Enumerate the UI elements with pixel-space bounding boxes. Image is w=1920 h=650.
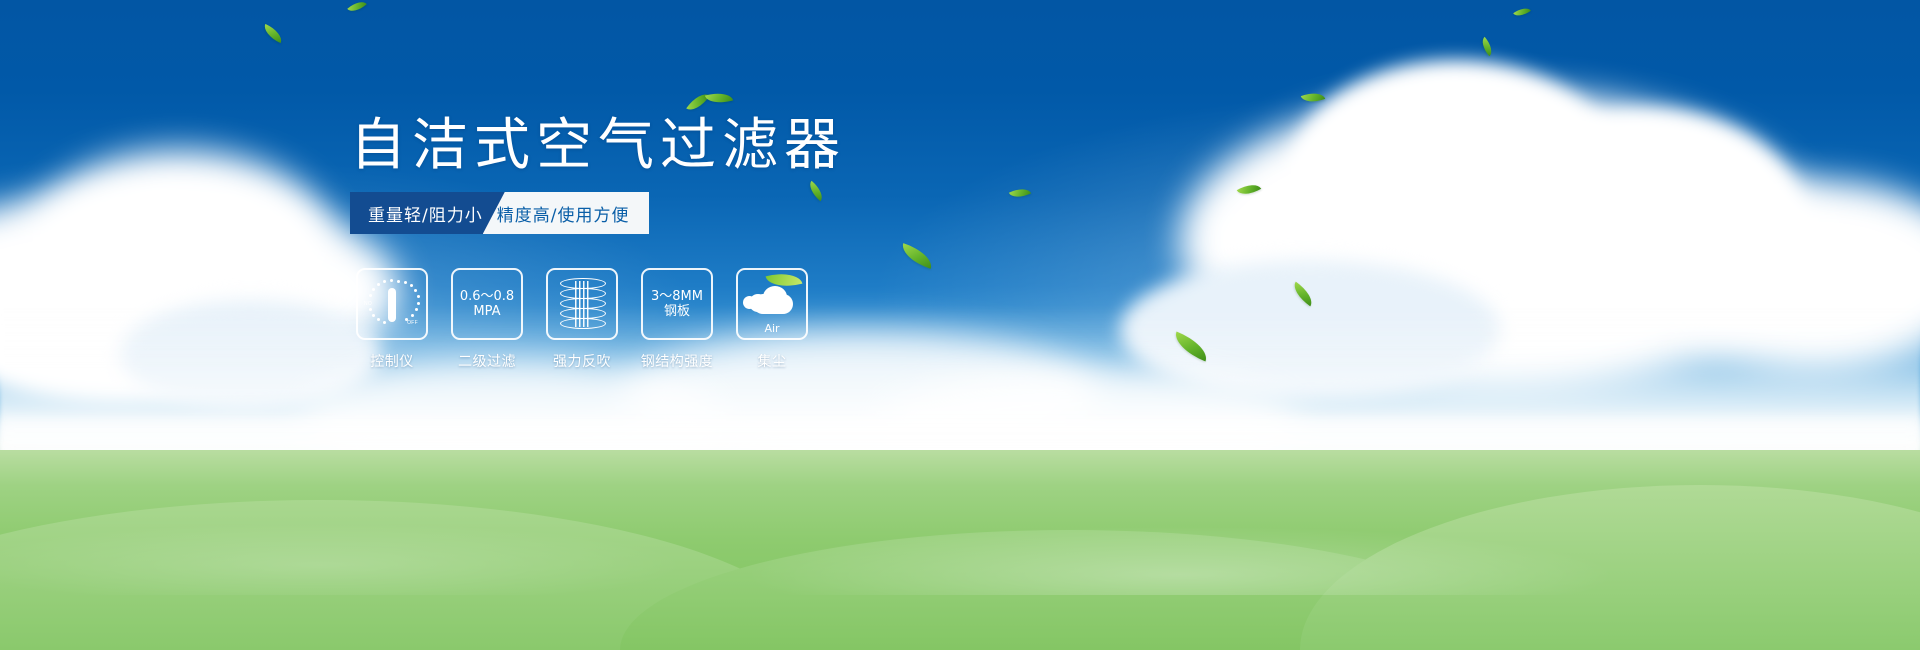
banner-content: 自洁式空气过滤器 重量轻/阻力小 精度高/使用方便 (0, 0, 1920, 650)
feature-icon-box: Air (736, 268, 808, 340)
page-title: 自洁式空气过滤器 (350, 118, 846, 174)
feature-item-two-stage-filter[interactable]: 0.6～0.8 MPA 二级过滤 (452, 268, 522, 371)
dial-label-off: OFF (407, 320, 418, 326)
feature-icon-box: NO OFF (356, 268, 428, 340)
feature-icon-box: 0.6～0.8 MPA (451, 268, 523, 340)
feature-label: 控制仪 (370, 351, 414, 371)
feature-label: 强力反吹 (553, 351, 611, 371)
feature-icon-box (546, 268, 618, 340)
feature-list: NO OFF 控制仪 0.6～0.8 MPA 二级过滤 (357, 268, 807, 371)
feature-item-controller[interactable]: NO OFF 控制仪 (357, 268, 427, 371)
dial-label-on: NO (364, 301, 372, 307)
pressure-text-icon: 0.6～0.8 MPA (460, 289, 514, 319)
air-label: Air (741, 322, 803, 335)
feature-label: 二级过滤 (458, 351, 516, 371)
feature-item-dust-collection[interactable]: Air 集尘 (737, 268, 807, 371)
tag-bar: 重量轻/阻力小 精度高/使用方便 (350, 192, 649, 234)
feature-item-blowback[interactable]: 强力反吹 (547, 268, 617, 371)
coil-blowback-icon (556, 277, 608, 331)
feature-label: 集尘 (758, 351, 787, 371)
cloud-air-icon: Air (741, 274, 803, 334)
control-dial-icon: NO OFF (364, 276, 420, 332)
feature-label: 钢结构强度 (641, 351, 714, 371)
feature-icon-box: 3～8MM 钢板 (641, 268, 713, 340)
product-hero-banner: 自洁式空气过滤器 重量轻/阻力小 精度高/使用方便 (0, 0, 1920, 650)
tag-weight-resistance[interactable]: 重量轻/阻力小 (350, 192, 505, 234)
steel-plate-text-icon: 3～8MM 钢板 (651, 289, 703, 319)
tag-precision-convenience[interactable]: 精度高/使用方便 (483, 192, 650, 234)
feature-item-steel-strength[interactable]: 3～8MM 钢板 钢结构强度 (642, 268, 712, 371)
dial-pointer (388, 288, 396, 322)
